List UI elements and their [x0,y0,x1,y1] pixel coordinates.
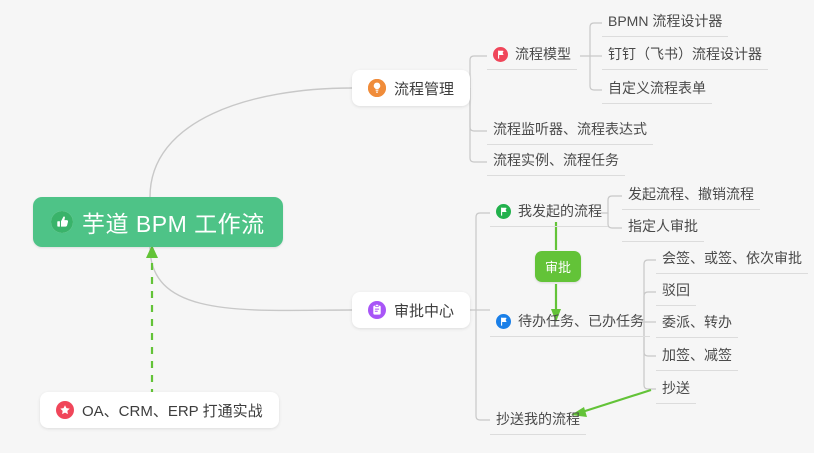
node-label: 发起流程、撤销流程 [628,183,754,205]
branch-node-process-management[interactable]: 流程管理 [352,70,470,106]
floating-node-label: OA、CRM、ERP 打通实战 [82,400,263,421]
node-countersign[interactable]: 会签、或签、依次审批 [656,247,808,274]
node-my-initiated-process[interactable]: 我发起的流程 [490,200,608,227]
node-label: 流程实例、流程任务 [493,149,619,171]
node-cc[interactable]: 抄送 [656,377,696,404]
node-todo-done-tasks[interactable]: 待办任务、已办任务 [490,310,650,337]
node-label: 指定人审批 [628,215,698,237]
node-label: 抄送我的流程 [496,408,580,430]
node-assignee-approval[interactable]: 指定人审批 [622,215,704,242]
node-label: 流程模型 [515,43,571,65]
star-icon [56,401,74,419]
node-start-cancel-process[interactable]: 发起流程、撤销流程 [622,183,760,210]
clipboard-icon [368,301,386,319]
node-process-model[interactable]: 流程模型 [487,43,577,70]
branch-label: 流程管理 [394,78,454,99]
node-label: BPMN 流程设计器 [608,10,722,32]
root-node[interactable]: 芋道 BPM 工作流 [33,197,283,247]
mindmap-canvas: 芋道 BPM 工作流 流程管理 流程模型 BPMN 流程设计器 钉钉（飞书）流程… [0,0,814,453]
branch-label: 审批中心 [394,300,454,321]
node-label: 自定义流程表单 [608,77,706,99]
thumbs-up-icon [51,211,73,233]
node-add-remove-sign[interactable]: 加签、减签 [656,344,738,371]
node-label: 钉钉（飞书）流程设计器 [608,43,762,65]
node-cc-to-me-process[interactable]: 抄送我的流程 [490,408,586,435]
node-label: 加签、减签 [662,344,732,366]
flag-icon [496,204,511,219]
node-bpmn-designer[interactable]: BPMN 流程设计器 [602,10,728,37]
node-listener-expression[interactable]: 流程监听器、流程表达式 [487,118,653,145]
root-label: 芋道 BPM 工作流 [82,205,265,239]
node-dingtalk-designer[interactable]: 钉钉（飞书）流程设计器 [602,43,768,70]
flag-icon [496,314,511,329]
badge-label: 审批 [545,260,571,275]
node-label: 流程监听器、流程表达式 [493,118,647,140]
floating-node-integration[interactable]: OA、CRM、ERP 打通实战 [40,392,279,428]
node-label: 驳回 [662,279,690,301]
node-label: 待办任务、已办任务 [518,310,644,332]
approve-flow-badge: 审批 [535,251,581,282]
node-label: 委派、转办 [662,311,732,333]
node-label: 我发起的流程 [518,200,602,222]
node-reject[interactable]: 驳回 [656,279,696,306]
node-custom-form[interactable]: 自定义流程表单 [602,77,712,104]
node-instance-task[interactable]: 流程实例、流程任务 [487,149,625,176]
flag-icon [493,47,508,62]
lightbulb-icon [368,79,386,97]
node-label: 抄送 [662,377,690,399]
branch-node-approval-center[interactable]: 审批中心 [352,292,470,328]
node-delegate-transfer[interactable]: 委派、转办 [656,311,738,338]
node-label: 会签、或签、依次审批 [662,247,802,269]
